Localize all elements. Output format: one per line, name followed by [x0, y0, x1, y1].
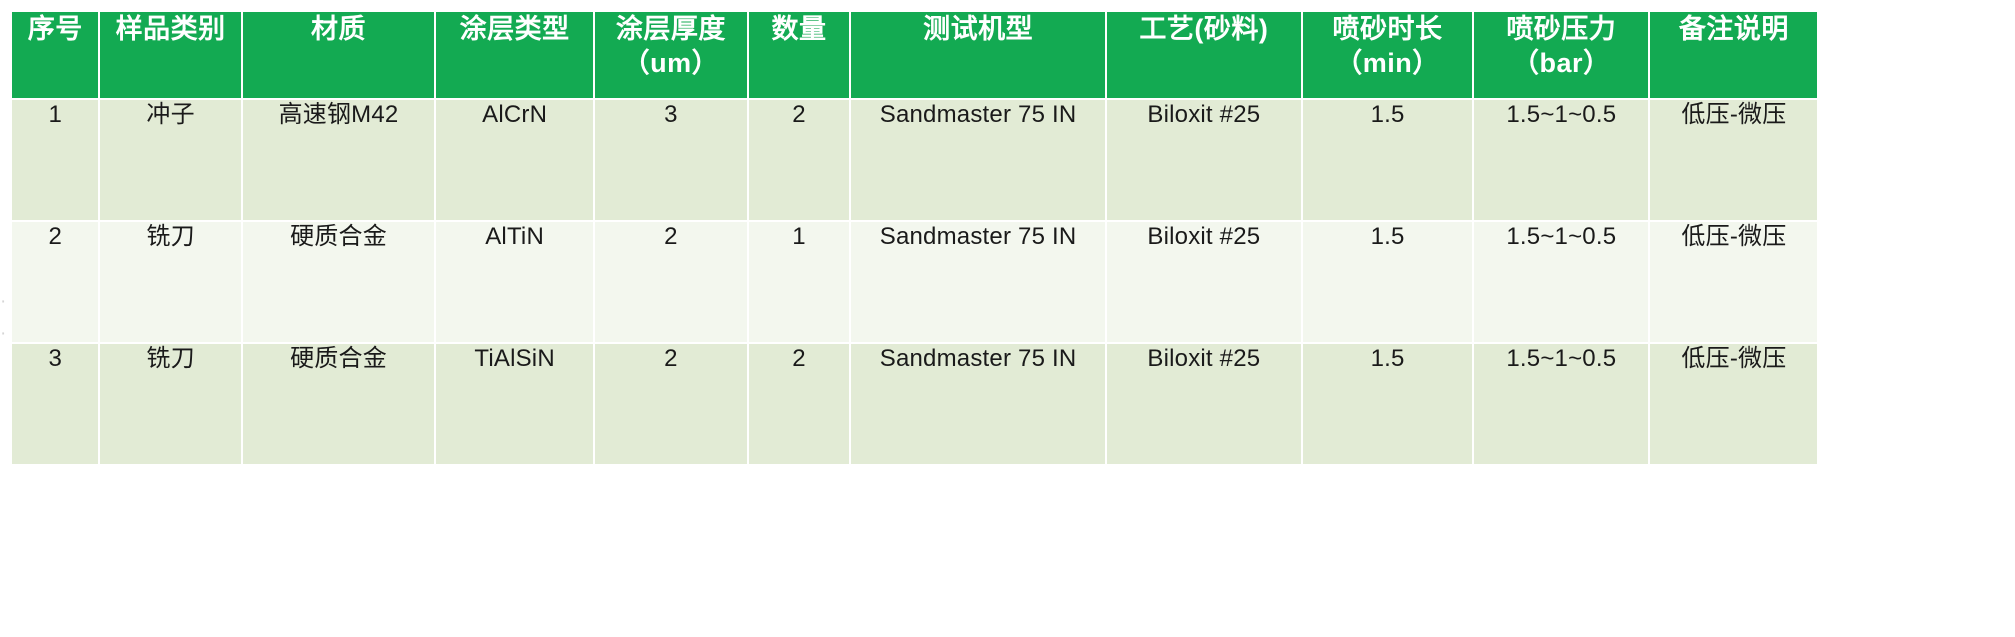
column-header-idx-label: 序号	[12, 12, 98, 46]
cell-coat[interactable]: AlTiN	[436, 222, 593, 342]
column-header-remark[interactable]: 备注说明	[1650, 12, 1817, 98]
sample-spec-table: 序号 样品类别 材质 涂层类型 涂层厚度 （um）	[10, 10, 2005, 466]
cell-qty[interactable]: 2	[749, 100, 849, 220]
cell-process[interactable]: Biloxit #25	[1107, 100, 1301, 220]
cell-mat[interactable]: 硬质合金	[243, 344, 435, 464]
edge-artifact-line-2: ·	[0, 318, 9, 350]
header-row: 序号 样品类别 材质 涂层类型 涂层厚度 （um）	[12, 12, 2003, 98]
table-body: 1 冲子 高速钢M42 AlCrN 3 2 Sandmaster 75 IN B…	[12, 100, 2003, 464]
cell-spacer	[1819, 222, 2003, 342]
spreadsheet-canvas: · · 序号 样品类别 材质	[0, 0, 2015, 637]
cell-cat[interactable]: 铣刀	[100, 222, 240, 342]
column-header-thick[interactable]: 涂层厚度 （um）	[595, 12, 747, 98]
table-row[interactable]: 2 铣刀 硬质合金 AlTiN 2 1 Sandmaster 75 IN Bil…	[12, 222, 2003, 342]
cell-machine[interactable]: Sandmaster 75 IN	[851, 100, 1105, 220]
cell-spacer	[1819, 100, 2003, 220]
cell-time[interactable]: 1.5	[1303, 222, 1472, 342]
cell-thick[interactable]: 2	[595, 222, 747, 342]
column-header-process[interactable]: 工艺(砂料)	[1107, 12, 1301, 98]
column-header-idx[interactable]: 序号	[12, 12, 98, 98]
table-row[interactable]: 3 铣刀 硬质合金 TiAlSiN 2 2 Sandmaster 75 IN B…	[12, 344, 2003, 464]
cell-coat[interactable]: AlCrN	[436, 100, 593, 220]
cell-qty[interactable]: 2	[749, 344, 849, 464]
column-header-mat-label: 材质	[243, 12, 435, 46]
edge-artifact-line-1: ·	[0, 286, 9, 318]
column-header-time-label: 喷砂时长	[1303, 12, 1472, 46]
cell-process[interactable]: Biloxit #25	[1107, 222, 1301, 342]
cell-pressure[interactable]: 1.5~1~0.5	[1474, 100, 1648, 220]
column-header-process-label: 工艺(砂料)	[1107, 12, 1301, 46]
column-header-cat-label: 样品类别	[100, 12, 240, 46]
cell-time[interactable]: 1.5	[1303, 100, 1472, 220]
cell-spacer	[1819, 344, 2003, 464]
column-header-qty-label: 数量	[749, 12, 849, 46]
column-header-thick-unit: （um）	[595, 46, 747, 80]
cell-remark[interactable]: 低压-微压	[1650, 100, 1817, 220]
column-header-machine-label: 测试机型	[851, 12, 1105, 46]
column-header-remark-label: 备注说明	[1650, 12, 1817, 46]
cell-thick[interactable]: 3	[595, 100, 747, 220]
column-header-cat[interactable]: 样品类别	[100, 12, 240, 98]
column-header-thick-label: 涂层厚度	[595, 12, 747, 46]
cell-mat[interactable]: 高速钢M42	[243, 100, 435, 220]
column-header-qty[interactable]: 数量	[749, 12, 849, 98]
cell-process[interactable]: Biloxit #25	[1107, 344, 1301, 464]
cell-time[interactable]: 1.5	[1303, 344, 1472, 464]
column-header-pressure-label: 喷砂压力	[1474, 12, 1648, 46]
cell-remark[interactable]: 低压-微压	[1650, 344, 1817, 464]
clipped-left-edge-artifact: · ·	[0, 286, 9, 352]
column-header-mat[interactable]: 材质	[243, 12, 435, 98]
column-header-coat[interactable]: 涂层类型	[436, 12, 593, 98]
cell-cat[interactable]: 铣刀	[100, 344, 240, 464]
table-row[interactable]: 1 冲子 高速钢M42 AlCrN 3 2 Sandmaster 75 IN B…	[12, 100, 2003, 220]
table-header: 序号 样品类别 材质 涂层类型 涂层厚度 （um）	[12, 12, 2003, 98]
column-header-time[interactable]: 喷砂时长 （min）	[1303, 12, 1472, 98]
column-header-pressure-unit: （bar）	[1474, 46, 1648, 80]
cell-idx[interactable]: 1	[12, 100, 98, 220]
cell-remark[interactable]: 低压-微压	[1650, 222, 1817, 342]
column-header-coat-label: 涂层类型	[436, 12, 593, 46]
cell-machine[interactable]: Sandmaster 75 IN	[851, 222, 1105, 342]
cell-pressure[interactable]: 1.5~1~0.5	[1474, 222, 1648, 342]
cell-qty[interactable]: 1	[749, 222, 849, 342]
cell-mat[interactable]: 硬质合金	[243, 222, 435, 342]
cell-idx[interactable]: 2	[12, 222, 98, 342]
column-header-pressure[interactable]: 喷砂压力 （bar）	[1474, 12, 1648, 98]
cell-pressure[interactable]: 1.5~1~0.5	[1474, 344, 1648, 464]
column-header-spacer	[1819, 12, 2003, 98]
cell-machine[interactable]: Sandmaster 75 IN	[851, 344, 1105, 464]
column-header-time-unit: （min）	[1303, 46, 1472, 80]
cell-idx[interactable]: 3	[12, 344, 98, 464]
cell-coat[interactable]: TiAlSiN	[436, 344, 593, 464]
cell-cat[interactable]: 冲子	[100, 100, 240, 220]
cell-thick[interactable]: 2	[595, 344, 747, 464]
column-header-machine[interactable]: 测试机型	[851, 12, 1105, 98]
